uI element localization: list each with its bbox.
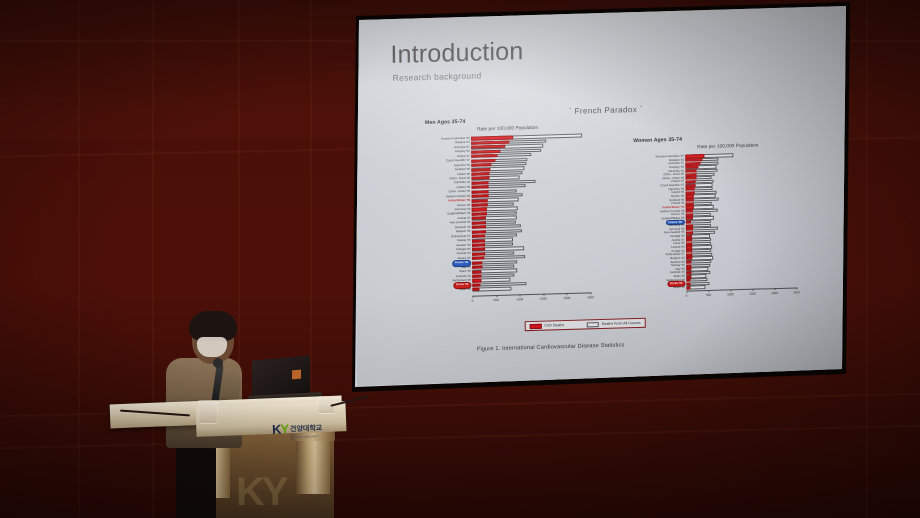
bar-cvd-deaths: [472, 221, 486, 224]
chart-women-title: Women Ages 35-74: [633, 137, 682, 144]
axis-tick-label: 2000: [563, 295, 570, 299]
laptop-sticker: [292, 370, 301, 380]
projection-screen: Introduction Research background ` Frenc…: [346, 2, 854, 394]
bar-cvd-deaths: [472, 230, 486, 233]
axis-tick-label: 500: [706, 292, 711, 296]
axis-tick-label: 0: [686, 293, 688, 297]
podium-logo: KY 건양대학교 KONYANG UNIVERSITY: [272, 417, 323, 440]
french-paradox-annotation: ` French Paradox ´: [569, 105, 643, 116]
water-glass: [198, 400, 218, 424]
chart-men-ages-35-74: Men Ages 35-74 Rate per 100,000 Populati…: [389, 117, 601, 313]
bar-cvd-deaths: [472, 288, 479, 291]
bar-cvd-deaths: [472, 248, 485, 251]
legend-swatch-all-causes: [587, 322, 599, 327]
bar-cvd-deaths: [472, 266, 482, 269]
bar-cvd-deaths: [472, 234, 485, 237]
ky-logo-icon: KY: [272, 421, 289, 437]
chart-women-ages-35-74: Women Ages 35-74 Rate per 100,000 Popula…: [605, 135, 806, 311]
bar-cvd-deaths: [472, 181, 489, 185]
microphone-head: [213, 358, 223, 368]
axis-tick-label: 1500: [749, 291, 756, 295]
bar-cvd-deaths: [472, 279, 481, 282]
legend-item-cvd: CVD Deaths: [530, 323, 565, 329]
bar-cvd-deaths: [472, 225, 486, 228]
axis-tick-label: 1000: [516, 297, 523, 301]
bar-cvd-deaths: [686, 286, 690, 289]
bar-cvd-deaths: [472, 243, 485, 246]
legend-label-all-causes: Deaths From All Causes: [602, 321, 641, 326]
bar-cvd-deaths: [472, 208, 487, 212]
legend-label-cvd: CVD Deaths: [544, 323, 564, 328]
podium-pillar-right: [296, 432, 330, 494]
podium-watermark-logo: KY: [236, 470, 286, 515]
presentation-slide: Introduction Research background ` Frenc…: [354, 0, 849, 386]
bar-cvd-deaths: [472, 261, 482, 264]
bar-cvd-deaths: [472, 203, 488, 207]
chart-legend: CVD Deaths Deaths From All Causes: [525, 318, 646, 332]
axis-tick-label: 500: [494, 298, 499, 302]
axis-tick-label: 1500: [540, 296, 547, 300]
screen-surface: Introduction Research background ` Frenc…: [346, 2, 854, 394]
chart-women-bars: Russian Federation '06Bulgaria '04Romani…: [685, 151, 796, 289]
chart-men-bars: Russian Federation '06Bulgaria '04Romani…: [471, 133, 590, 292]
chart-women-axis-title: Rate per 100,000 Population: [697, 144, 758, 151]
axis-tick-label: 0: [472, 298, 474, 302]
legend-item-all-causes: Deaths From All Causes: [587, 321, 640, 328]
chart-men-axis-title: Rate per 100,000 Population: [477, 126, 538, 133]
chart-category-label: Japan '06: [459, 288, 471, 293]
bar-cvd-deaths: [472, 194, 489, 198]
presenter-legs: [176, 444, 216, 518]
axis-line: [472, 292, 590, 296]
conference-hall-photo: Introduction Research background ` Frenc…: [0, 0, 920, 518]
slide-subtitle: Research background: [393, 70, 482, 83]
face-mask: [197, 337, 227, 357]
bar-cvd-deaths: [472, 190, 489, 194]
bar-cvd-deaths: [472, 199, 488, 203]
bar-cvd-deaths: [472, 217, 486, 221]
bar-cvd-deaths: [472, 283, 480, 286]
slide-title: Introduction: [390, 37, 523, 70]
bar-cvd-deaths: [472, 239, 485, 242]
chart-category-label: Japan '06: [673, 286, 685, 290]
legend-swatch-cvd: [530, 323, 542, 328]
axis-tick-label: 2500: [587, 295, 594, 299]
bar-cvd-deaths: [472, 212, 487, 216]
axis-tick-label: 2500: [793, 290, 800, 294]
bar-cvd-deaths: [472, 274, 481, 277]
figure-caption: Figure 1. International Cardiovascular D…: [477, 342, 625, 352]
podium-org-name: 건양대학교 KONYANG UNIVERSITY: [290, 417, 323, 439]
bar-cvd-deaths: [472, 270, 481, 273]
bar-cvd-deaths: [472, 252, 485, 255]
axis-tick-label: 1000: [727, 292, 734, 296]
axis-tick-label: 2000: [771, 291, 778, 295]
chart-men-x-axis: 05001000150020002500: [472, 292, 590, 295]
bar-cvd-deaths: [472, 257, 484, 260]
chart-men-title: Men Ages 35-74: [425, 119, 465, 126]
